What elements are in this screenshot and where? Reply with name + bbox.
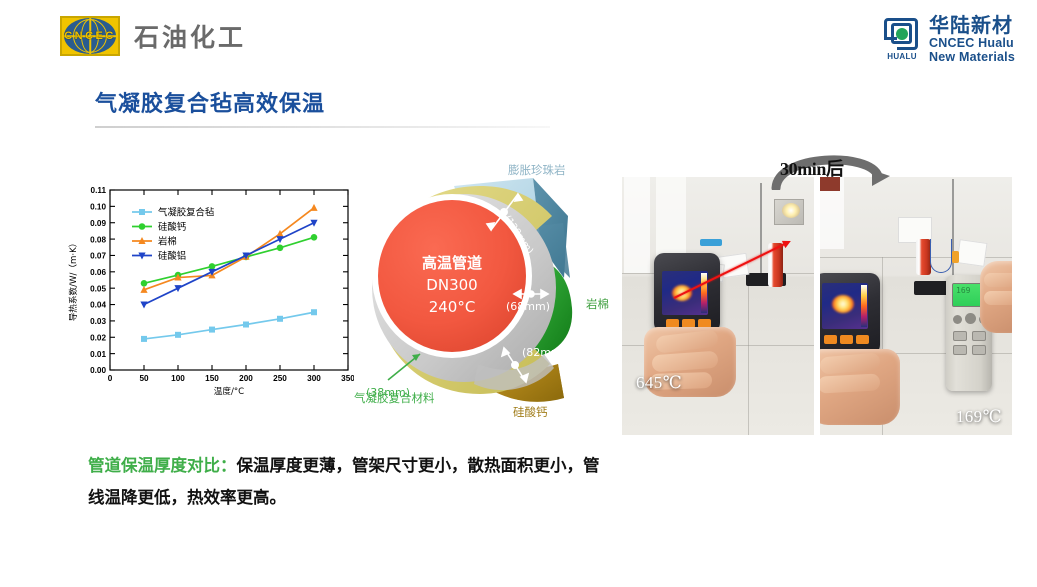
butane-torch-can-2 xyxy=(916,239,931,275)
summary-caption: 管道保温厚度对比：保温厚度更薄，管架尺寸更小，散热面积更小，管线温降更低，热效率… xyxy=(88,450,608,514)
thickness-label-rockwool: (68mm) xyxy=(506,300,550,313)
thermal-camera-body xyxy=(654,253,720,333)
hualu-en-line1: CNCEC Hualu xyxy=(929,36,1015,50)
thickness-arrow-rockwool xyxy=(514,290,548,298)
svg-text:0.08: 0.08 xyxy=(90,235,106,244)
svg-text:硅酸钙: 硅酸钙 xyxy=(158,221,186,233)
thermometer-knob-2[interactable] xyxy=(965,313,976,324)
svg-text:0.06: 0.06 xyxy=(90,268,106,277)
svg-text:0.10: 0.10 xyxy=(90,203,106,212)
thermometer-digits: 169 xyxy=(956,286,970,295)
svg-text:0.03: 0.03 xyxy=(90,317,106,326)
svg-text:0: 0 xyxy=(108,374,113,383)
svg-text:硅酸铝: 硅酸铝 xyxy=(158,250,186,262)
wall-panel xyxy=(624,177,650,273)
thermal-camera-body-2 xyxy=(820,273,880,355)
slide-root: CNCEC 石油化工 HUALU 华陆新材 CNCEC Hualu New Ma… xyxy=(0,0,1037,587)
thermal-conductivity-chart: 0.000.010.020.030.040.050.060.070.080.09… xyxy=(64,178,354,410)
thermometer-key-3[interactable] xyxy=(953,345,967,355)
thermal-scale-bar-2 xyxy=(861,285,867,327)
finger-6 xyxy=(984,273,1012,287)
pipe-label-line1: 高温管道 xyxy=(422,254,482,272)
finger-7 xyxy=(984,291,1012,305)
svg-text:300: 300 xyxy=(307,374,321,383)
svg-text:温度/°C: 温度/°C xyxy=(214,385,244,397)
layer-name-perlite: 膨胀珍珠岩 xyxy=(508,162,566,178)
svg-text:0.09: 0.09 xyxy=(90,219,106,228)
svg-text:100: 100 xyxy=(171,374,185,383)
temperature-label-after: 169℃ xyxy=(956,407,1002,427)
svg-text:150: 150 xyxy=(205,374,219,383)
camera-button-4[interactable] xyxy=(824,335,837,344)
pipe-insulation-diagram: 高温管道 DN300 240°C (128mm) (68mm) (82mm) (… xyxy=(358,168,616,420)
hualu-cn-name: 华陆新材 xyxy=(929,14,1015,36)
floor-seam-3 xyxy=(748,273,749,435)
svg-text:0.00: 0.00 xyxy=(90,366,106,375)
experiment-photo-pair: 645℃ xyxy=(622,177,1012,435)
pipe-diagram-svg: 高温管道 DN300 240°C (128mm) (68mm) (82mm) (… xyxy=(358,168,616,420)
layer-name-aerogel: 气凝胶复合材料 xyxy=(354,390,435,406)
svg-text:250: 250 xyxy=(273,374,287,383)
svg-text:0.04: 0.04 xyxy=(90,301,106,310)
hualu-en-line2: New Materials xyxy=(929,50,1015,64)
thermal-hotspot-2 xyxy=(832,295,854,313)
svg-text:0.11: 0.11 xyxy=(91,186,107,195)
thermocouple-wire xyxy=(930,239,952,273)
elapsed-time-label: 30min后 xyxy=(780,155,844,181)
thermometer-key-2[interactable] xyxy=(972,331,986,341)
hualu-logo-word: HUALU xyxy=(882,52,922,61)
hualu-square-logo-icon: HUALU xyxy=(882,18,922,60)
svg-text:50: 50 xyxy=(139,374,149,383)
svg-text:气凝胶复合毡: 气凝胶复合毡 xyxy=(158,207,215,219)
sample-card-2 xyxy=(956,239,987,267)
layer-name-rockwool: 岩棉 xyxy=(586,296,609,312)
thermal-camera-screen-2 xyxy=(822,283,868,329)
elapsed-time-arrow: 30min后 xyxy=(766,142,894,190)
pipe-label-line3: 240°C xyxy=(429,298,476,316)
page-title: 气凝胶复合毡高效保温 xyxy=(95,86,325,118)
thermometer-key-1[interactable] xyxy=(953,331,967,341)
stand-rod-2 xyxy=(952,179,954,279)
thermometer-knob-1[interactable] xyxy=(953,315,962,324)
header-right-brand: HUALU 华陆新材 CNCEC Hualu New Materials xyxy=(882,14,1015,64)
header-company-name: 石油化工 xyxy=(134,18,246,54)
chart-svg-canvas: 0.000.010.020.030.040.050.060.070.080.09… xyxy=(64,178,354,410)
connector-plug xyxy=(952,251,959,263)
svg-text:岩棉: 岩棉 xyxy=(158,236,177,248)
header-left-brand: CNCEC 石油化工 xyxy=(60,16,246,56)
layer-name-calcium: 硅酸钙 xyxy=(513,404,548,420)
slide-header: CNCEC 石油化工 HUALU 华陆新材 CNCEC Hualu New Ma… xyxy=(0,0,1037,70)
heated-spot xyxy=(782,203,800,218)
photo-after: 169 169℃ xyxy=(820,177,1012,435)
svg-text:导热系数/W/（m·K）: 导热系数/W/（m·K） xyxy=(67,239,79,322)
title-divider xyxy=(95,126,550,128)
wall-panel-2 xyxy=(656,177,686,259)
svg-text:0.01: 0.01 xyxy=(90,350,106,359)
thermometer-key-4[interactable] xyxy=(972,345,986,355)
photo-before: 645℃ xyxy=(622,177,814,435)
temperature-label-before: 645℃ xyxy=(636,373,682,393)
camera-button-5[interactable] xyxy=(840,335,853,344)
cncec-logo-text: CNCEC xyxy=(62,30,118,42)
thermal-scale-bar xyxy=(701,273,707,313)
caption-highlight: 管道保温厚度对比： xyxy=(88,456,237,475)
svg-text:0.07: 0.07 xyxy=(90,252,106,261)
svg-text:200: 200 xyxy=(239,374,253,383)
hualu-wordmark: 华陆新材 CNCEC Hualu New Materials xyxy=(929,14,1015,64)
camera-button-6[interactable] xyxy=(856,335,869,344)
finger-5 xyxy=(820,373,880,393)
svg-text:350: 350 xyxy=(341,374,354,383)
svg-text:0.05: 0.05 xyxy=(90,284,106,293)
blue-tool xyxy=(700,239,722,246)
pipe-label-line2: DN300 xyxy=(426,276,477,294)
cncec-globe-logo-icon: CNCEC xyxy=(60,16,120,56)
thickness-label-calcium: (82mm) xyxy=(522,346,566,359)
stand-rod xyxy=(760,183,762,275)
svg-text:0.02: 0.02 xyxy=(90,333,106,342)
